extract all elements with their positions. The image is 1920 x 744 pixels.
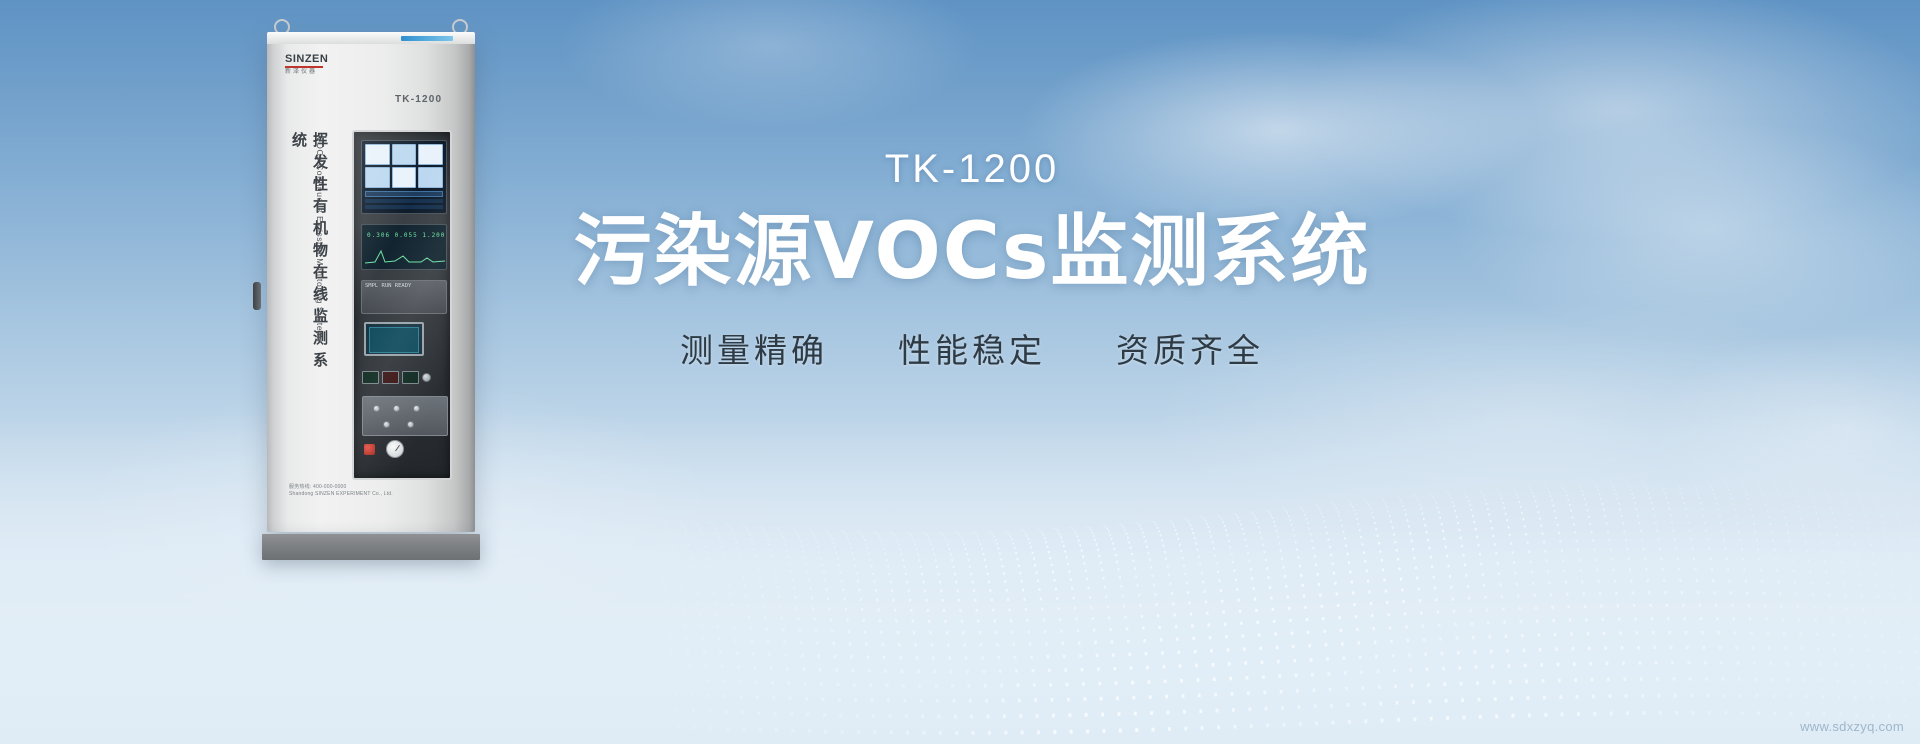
- valve-manifold: [362, 396, 448, 436]
- controller-lcd: [364, 322, 424, 356]
- product-banner: SINZEN 新泽仪器 TK-1200 挥发性有机物在线监测系统 VOCs Co…: [0, 0, 1920, 744]
- cloud-decoration: [560, 0, 980, 130]
- valve-port-icon: [373, 405, 380, 412]
- brand-logo-accent-bar: [285, 66, 323, 68]
- cabinet-accent-stripe: [401, 36, 453, 41]
- valve-port-icon: [407, 421, 414, 428]
- chromatogram-trace-icon: [365, 245, 445, 265]
- control-knob: [422, 373, 431, 382]
- chromatogram-display: 0.306 0.055 1.200: [361, 224, 447, 270]
- cloud-decoration: [1650, 330, 1920, 530]
- hmi-tile: [418, 144, 443, 165]
- brand-logo-text: SINZEN: [285, 54, 341, 65]
- site-watermark: www.sdxzyq.com: [1800, 719, 1904, 734]
- valve-port-icon: [393, 405, 400, 412]
- cabinet-model-label: TK-1200: [395, 94, 442, 105]
- feature-item: 资质齐全: [1116, 324, 1264, 372]
- dotted-wave-mesh: [660, 414, 1920, 744]
- hmi-tile: [365, 144, 390, 165]
- hmi-status-bar: [365, 205, 443, 209]
- meter-row: [362, 364, 448, 390]
- hmi-tile: [392, 144, 417, 165]
- hmi-tile: [418, 167, 443, 188]
- brand-logo: SINZEN 新泽仪器: [285, 54, 341, 80]
- feature-item: 性能稳定: [898, 324, 1046, 372]
- cabinet-body: SINZEN 新泽仪器 TK-1200 挥发性有机物在线监测系统 VOCs Co…: [267, 32, 475, 532]
- digital-meter: [382, 371, 399, 384]
- cabinet-door-handle: [253, 282, 261, 310]
- cabinet-service-plate: 服务热线: 400-000-0000 Shandong SINZEN EXPER…: [289, 484, 419, 506]
- hmi-tile: [365, 167, 390, 188]
- banner-headline: 污染源VOCs监测系统: [552, 206, 1392, 298]
- analyzer-control-panel: SMPL RUN READY: [361, 280, 447, 314]
- hmi-tile: [392, 167, 417, 188]
- digital-meter: [402, 371, 419, 384]
- product-model-heading: TK-1200: [552, 146, 1392, 192]
- company-name-text: Shandong SINZEN EXPERIMENT Co., Ltd.: [289, 491, 419, 498]
- banner-copy-block: TK-1200 污染源VOCs监测系统 测量精确 性能稳定 资质齐全: [552, 146, 1392, 372]
- hmi-status-bar: [365, 199, 443, 203]
- emergency-stop-button: [364, 444, 375, 455]
- cabinet-glass-door: 0.306 0.055 1.200 SMPL RUN READY: [352, 130, 452, 480]
- valve-port-icon: [383, 421, 390, 428]
- brand-logo-cn-text: 新泽仪器: [285, 69, 341, 76]
- valve-port-icon: [413, 405, 420, 412]
- cloud-decoration: [1450, 120, 1920, 340]
- cabinet-vertical-en-label: VOCs Continuous Emission Monitoring Syst…: [315, 136, 325, 386]
- cloud-decoration: [1300, 0, 1920, 240]
- feature-list: 测量精确 性能稳定 资质齐全: [552, 324, 1392, 372]
- cabinet-base-plinth: [262, 534, 480, 560]
- product-cabinet-image: SINZEN 新泽仪器 TK-1200 挥发性有机物在线监测系统 VOCs Co…: [267, 28, 475, 558]
- analyzer-panel-text: SMPL RUN READY: [362, 281, 446, 291]
- pressure-gauge-icon: [386, 440, 404, 458]
- service-hotline-text: 服务热线: 400-000-0000: [289, 484, 419, 491]
- chromatogram-values: 0.306 0.055 1.200: [367, 232, 445, 239]
- hmi-touch-screen: [361, 140, 447, 214]
- hmi-status-bar: [365, 191, 443, 197]
- feature-item: 测量精确: [680, 324, 828, 372]
- digital-meter: [362, 371, 379, 384]
- controller-lcd-screen: [369, 327, 419, 353]
- hmi-tile-grid: [365, 144, 443, 188]
